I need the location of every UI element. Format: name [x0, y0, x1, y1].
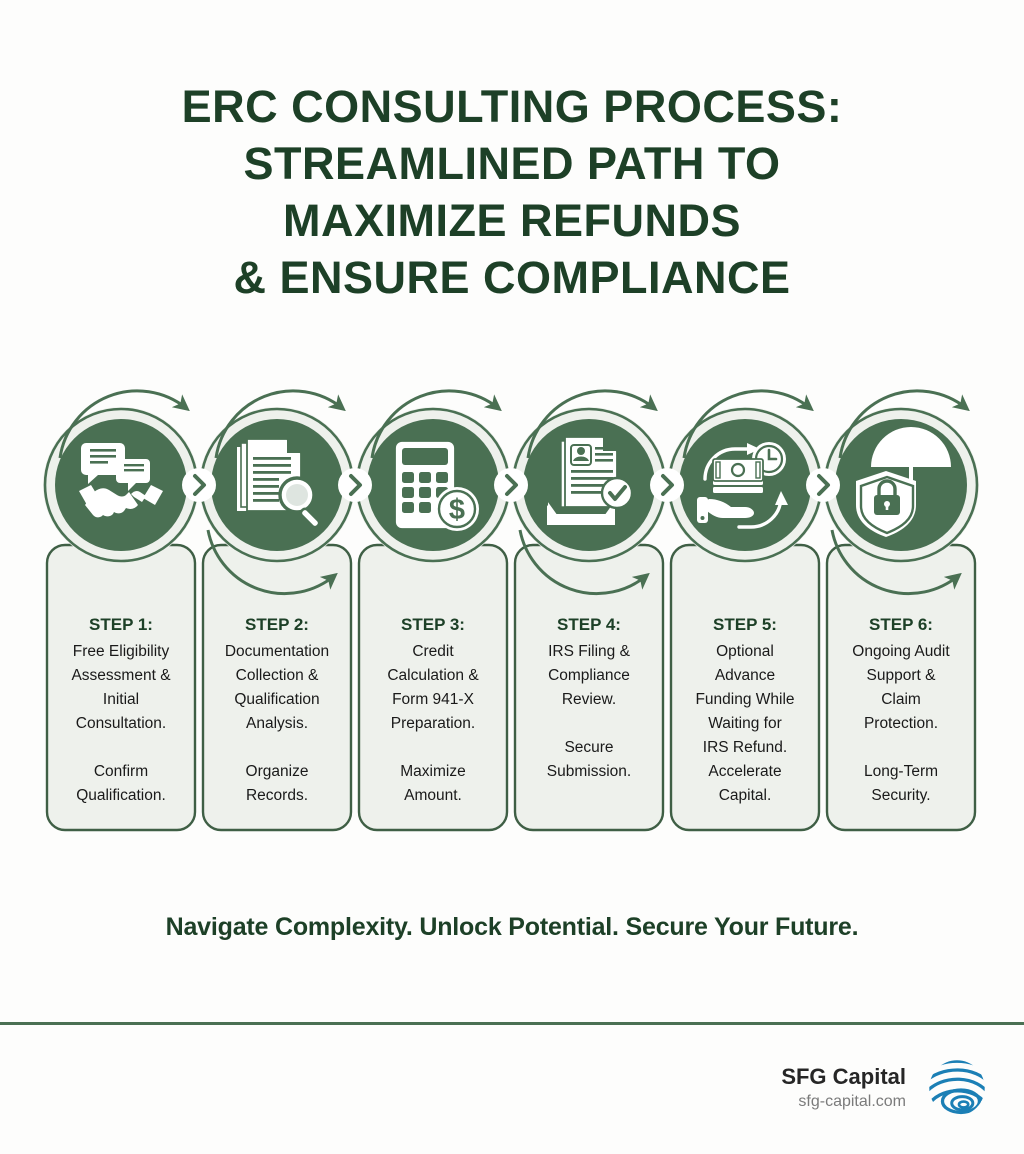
step-sub-2: Organize Records.: [204, 760, 350, 808]
step-card-1[interactable]: STEP 1: Free Eligibility Assessment & In…: [48, 545, 194, 830]
chevron-connector-3: [494, 468, 528, 502]
step-card-6[interactable]: STEP 6: Ongoing Audit Support & Claim Pr…: [828, 545, 974, 830]
step-card-4[interactable]: STEP 4: IRS Filing & Compliance Review. …: [516, 545, 662, 830]
title-line-4: & Ensure Compliance: [0, 249, 1024, 306]
brand-name: SFG Capital: [781, 1063, 906, 1091]
step-body-2: Documentation Collection & Qualification…: [204, 640, 350, 736]
chevron-connector-5: [806, 468, 840, 502]
step-label-3: STEP 3:: [360, 613, 506, 637]
step-sub-4: Secure Submission.: [516, 736, 662, 784]
step-sub-3: Maximize Amount.: [360, 760, 506, 808]
step-circle-1: [55, 419, 187, 551]
title-line-2: Streamlined Path to: [0, 135, 1024, 192]
step-label-2: STEP 2:: [204, 613, 350, 637]
footer-branding: SFG Capital sfg-capital.com: [781, 1055, 990, 1121]
title-line-3: Maximize Refunds: [0, 192, 1024, 249]
step-body-5: Optional Advance Funding While Waiting f…: [672, 640, 818, 808]
step-sub-1: Confirm Qualification.: [48, 760, 194, 808]
chevron-connector-1: [182, 468, 216, 502]
title-line-1: ERC Consulting Process:: [0, 78, 1024, 135]
step-sub-6: Long-Term Security.: [828, 760, 974, 808]
step-card-2[interactable]: STEP 2: Documentation Collection & Quali…: [204, 545, 350, 830]
step-body-6: Ongoing Audit Support & Claim Protection…: [828, 640, 974, 736]
tagline: Navigate Complexity. Unlock Potential. S…: [0, 913, 1024, 942]
svg-text:$: $: [449, 494, 465, 526]
chevron-connector-4: [650, 468, 684, 502]
footer-divider: [0, 1022, 1024, 1025]
brand-text-block: SFG Capital sfg-capital.com: [781, 1063, 906, 1113]
step-label-4: STEP 4:: [516, 613, 662, 637]
step-body-1: Free Eligibility Assessment & Initial Co…: [48, 640, 194, 736]
step-label-1: STEP 1:: [48, 613, 194, 637]
step-card-3[interactable]: STEP 3: Credit Calculation & Form 941-X …: [360, 545, 506, 830]
step-body-3: Credit Calculation & Form 941-X Preparat…: [360, 640, 506, 736]
step-cards: STEP 1: Free Eligibility Assessment & In…: [0, 545, 1024, 835]
infographic-poster: ERC Consulting Process: Streamlined Path…: [0, 0, 1024, 1154]
chevron-connector-2: [338, 468, 372, 502]
step-label-5: STEP 5:: [672, 613, 818, 637]
step-label-6: STEP 6:: [828, 613, 974, 637]
brand-url[interactable]: sfg-capital.com: [781, 1091, 906, 1113]
globe-swirl-logo: [924, 1055, 990, 1121]
step-card-5[interactable]: STEP 5: Optional Advance Funding While W…: [672, 545, 818, 830]
page-title: ERC Consulting Process: Streamlined Path…: [0, 78, 1024, 306]
step-body-4: IRS Filing & Compliance Review.: [516, 640, 662, 712]
